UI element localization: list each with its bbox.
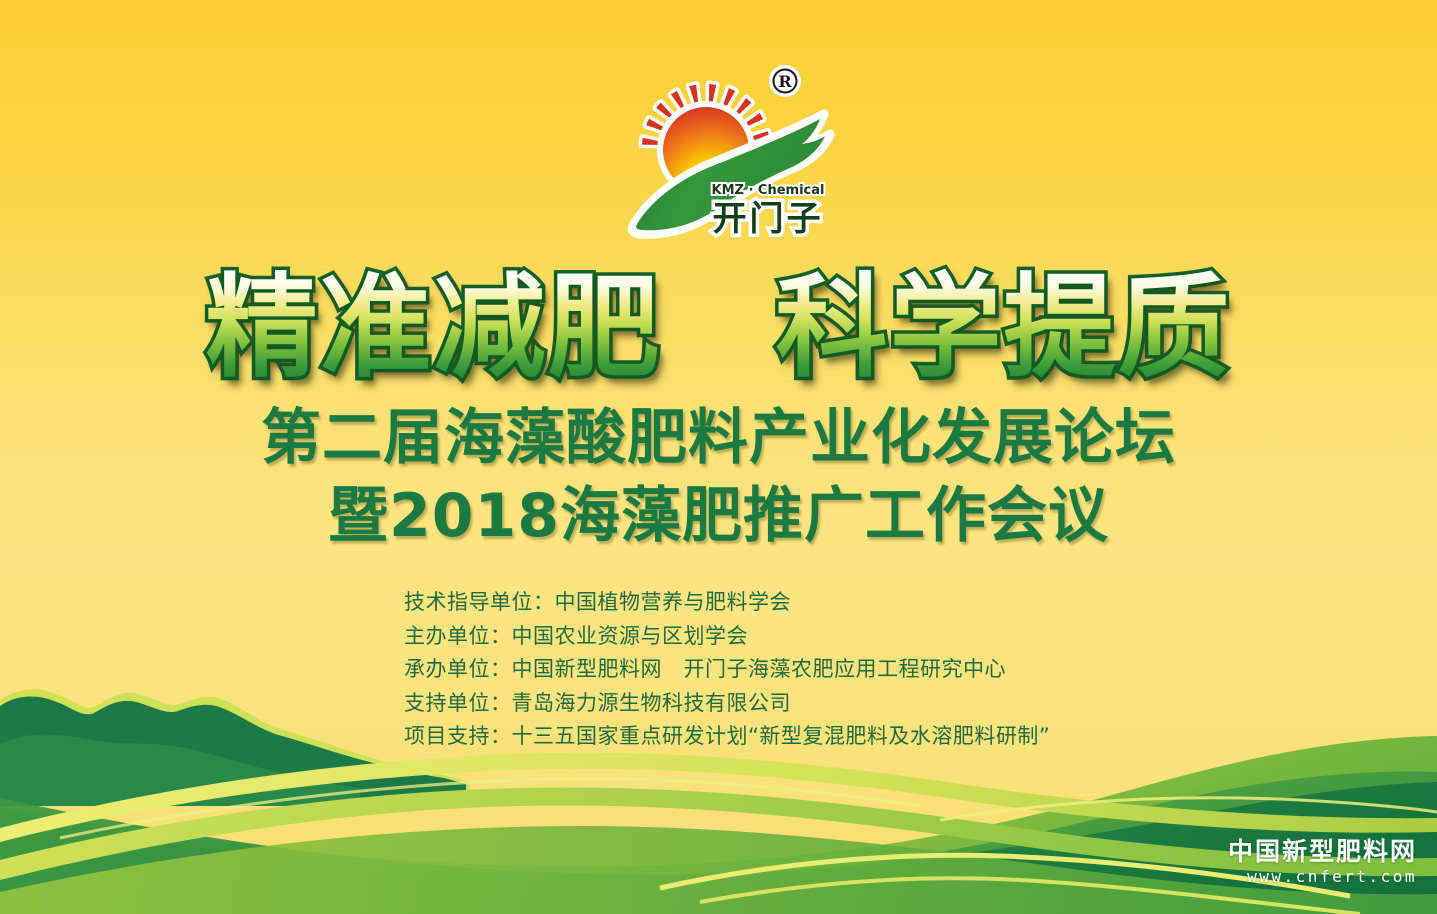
logo-brand-en: KMZ · Chemical xyxy=(712,183,825,198)
site-watermark: 中国新型肥料网 www.cnfert.com xyxy=(1228,837,1417,888)
registered-trademark-icon: R xyxy=(769,65,801,97)
info-line-supporter: 支持单位：青岛海力源生物科技有限公司 xyxy=(404,687,1224,721)
subtitle-line-1: 第二届海藻酸肥料产业化发展论坛 xyxy=(0,404,1437,472)
info-line-technical-guidance: 技术指导单位：中国植物营养与肥料学会 xyxy=(404,586,1224,620)
headline-text: 精准减肥 科学提质 xyxy=(206,268,1232,388)
info-line-project-support: 项目支持：十三五国家重点研发计划“新型复混肥料及水溶肥料研制” xyxy=(404,720,1224,754)
organizer-info-block: 技术指导单位：中国植物营养与肥料学会 主办单位：中国农业资源与区划学会 承办单位… xyxy=(404,586,1224,754)
logo-brand-cn: 开门子 xyxy=(713,199,824,239)
company-logo: R KMZ · Chemical KMZ · Chemical 开门子 开门子 xyxy=(618,58,848,248)
page-title: 精准减肥 科学提质 xyxy=(0,268,1437,388)
poster-canvas: R KMZ · Chemical KMZ · Chemical 开门子 开门子 … xyxy=(0,0,1437,914)
svg-text:R: R xyxy=(778,72,792,91)
watermark-site-name: 中国新型肥料网 xyxy=(1228,837,1417,866)
subtitle-line-2: 暨2018海藻肥推广工作会议 xyxy=(0,482,1437,550)
info-line-organizer: 承办单位：中国新型肥料网 开门子海藻农肥应用工程研究中心 xyxy=(404,653,1224,687)
watermark-url: www.cnfert.com xyxy=(1228,866,1417,888)
info-line-host: 主办单位：中国农业资源与区划学会 xyxy=(404,620,1224,654)
